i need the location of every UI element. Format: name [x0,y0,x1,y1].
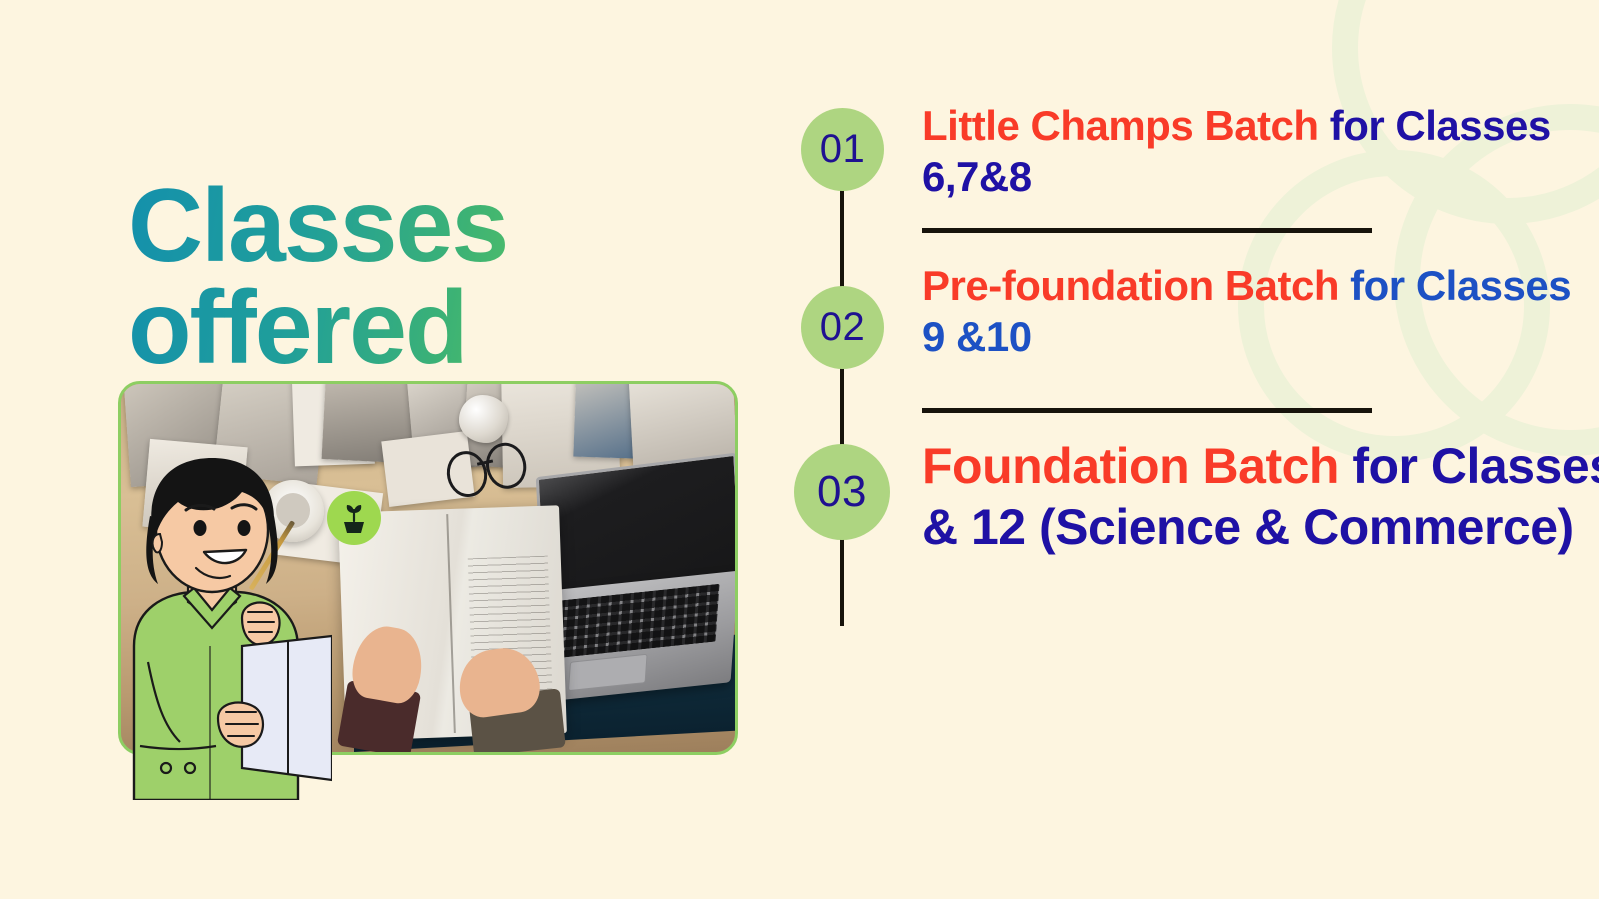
item-3-highlight: Foundation Batch [922,438,1339,494]
page-title-line-1: Classes [128,176,688,278]
item-2-connector: for [1339,262,1405,309]
item-3-connector: for [1339,438,1418,494]
item-3-detail-line2: (Science & Commerce) [1039,499,1574,555]
plant-badge [327,491,381,545]
timeline-divider-1 [922,228,1372,233]
item-1-highlight: Little Champs Batch [922,102,1319,149]
timeline-divider-2 [922,408,1372,413]
left-column: Classes offered [0,0,790,899]
classes-timeline: 01 02 03 Little Champs Batch for Classes… [790,0,1599,899]
crumpled-paper [459,395,508,443]
item-2-highlight: Pre-foundation Batch [922,262,1339,309]
paper-sheet [142,439,248,536]
timeline-badge-01: 01 [801,108,884,191]
page-title: Classes offered [128,176,688,380]
slide-canvas: Classes offered [0,0,1599,899]
timeline-item-1-text: Little Champs Batch for Classes 6,7&8 [922,100,1582,202]
timeline-item-3-text: Foundation Batch for Classes 11 & 12 (Sc… [922,436,1599,558]
timeline-badge-03: 03 [794,444,890,540]
study-photo-card [118,381,738,755]
timeline-connector-line [840,148,844,626]
timeline-badge-02: 02 [801,286,884,369]
coffee-cup [262,480,323,543]
item-1-connector: for [1319,102,1385,149]
sprout-plant-icon [338,501,370,535]
photo-content [121,384,735,752]
page-title-line-2: offered [128,278,688,380]
laptop-trackpad [568,654,647,691]
timeline-item-2-text: Pre-foundation Batch for Classes 9 &10 [922,260,1599,362]
